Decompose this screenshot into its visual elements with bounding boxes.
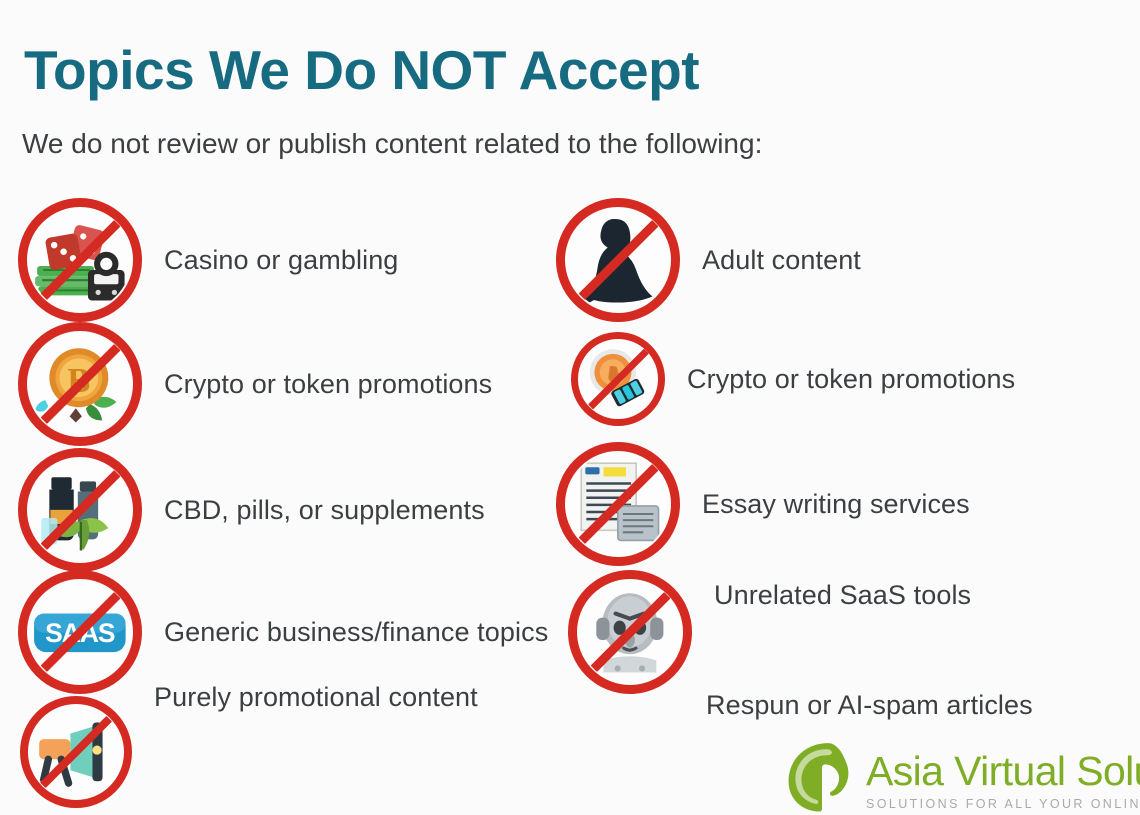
svg-text:SAAS: SAAS — [45, 618, 115, 648]
asia-virtual-solutions-logo: Asia Virtual Solutions SOLUTIONS FOR ALL… — [784, 737, 1140, 813]
adult-silhouette-glyph — [567, 209, 669, 311]
list-item-label: Essay writing services — [702, 485, 970, 523]
list-item-generic-business: SAAS Generic business/finance topics — [18, 570, 548, 694]
list-item-label: Adult content — [702, 241, 861, 279]
svg-text:B: B — [67, 362, 90, 400]
list-item-label: Crypto or token promotions — [687, 360, 1015, 398]
list-item-crypto: B Crypto or token promotions — [18, 322, 492, 446]
no-crypto-tokens-icon — [571, 332, 665, 426]
list-item-label: Purely promotional content — [154, 678, 478, 716]
asia-virtual-solutions-swirl-logo-icon — [784, 737, 860, 813]
logo-tagline: SOLUTIONS FOR ALL YOUR ONLINE NEEDS — [866, 797, 1140, 811]
page-title: Topics We Do NOT Accept — [24, 42, 699, 100]
list-item-cbd: CBD, pills, or supplements — [18, 448, 485, 572]
casino-glyph — [29, 209, 131, 311]
robot-glyph — [579, 581, 681, 683]
no-saas-badge-icon: SAAS — [18, 570, 142, 694]
logo-text-block: Asia Virtual Solutions SOLUTIONS FOR ALL… — [866, 751, 1140, 811]
no-robot-icon — [568, 570, 692, 694]
crypto-tokens-glyph — [579, 340, 656, 417]
list-item-saas-tools: Unrelated SaaS tools — [568, 570, 971, 694]
megaphone-glyph — [30, 706, 122, 798]
slide-canvas: Topics We Do NOT Accept We do not review… — [0, 0, 1140, 815]
list-item-promotional: Purely promotional content — [20, 696, 478, 808]
no-megaphone-icon — [20, 696, 132, 808]
list-item-label: Crypto or token promotions — [164, 365, 492, 403]
list-item-respun-ai-spam: Respun or AI-spam articles — [706, 686, 1033, 724]
no-casino-icon — [18, 198, 142, 322]
page-subtitle: We do not review or publish content rela… — [22, 128, 762, 160]
no-crypto-coin-icon: B — [18, 322, 142, 446]
logo-wordmark: Asia Virtual Solutions — [866, 751, 1140, 792]
list-item-label: Casino or gambling — [164, 241, 398, 279]
list-item-label: Respun or AI-spam articles — [706, 686, 1033, 724]
crypto-coin-glyph: B — [29, 333, 131, 435]
no-adult-silhouette-icon — [556, 198, 680, 322]
essay-document-glyph — [567, 453, 669, 555]
no-cbd-supplements-icon — [18, 448, 142, 572]
list-item-casino: Casino or gambling — [18, 198, 398, 322]
list-item-crypto-tokens: Crypto or token promotions — [571, 332, 1015, 426]
no-essay-document-icon — [556, 442, 680, 566]
list-item-essay-writing: Essay writing services — [556, 442, 970, 566]
cbd-supplements-glyph — [29, 459, 131, 561]
list-item-label: Generic business/finance topics — [164, 613, 548, 651]
list-item-adult-content: Adult content — [556, 198, 861, 322]
saas-badge-glyph: SAAS — [29, 581, 131, 683]
list-item-label: CBD, pills, or supplements — [164, 491, 485, 529]
list-item-label: Unrelated SaaS tools — [714, 576, 971, 614]
